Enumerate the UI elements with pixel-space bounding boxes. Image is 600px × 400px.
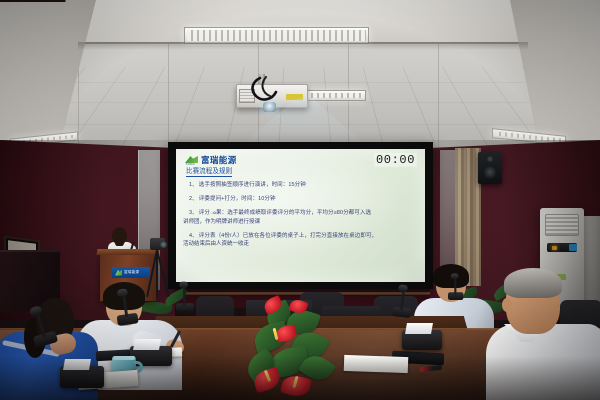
item-text: 选手按照抽签顺序进行演讲，时间：15分钟 — [199, 182, 306, 188]
logo-company-name: 富瑞能源 — [201, 156, 237, 165]
projection-screen-frame: FORIC 富瑞能源 00:00 比赛流程及规则 1、选手按照抽签顺序进行演讲，… — [168, 142, 433, 289]
name-card — [405, 323, 433, 334]
attendee-hair — [504, 268, 562, 298]
meeting-room-photo: FORIC 富瑞能源 00:00 比赛流程及规则 1、选手按照抽签顺序进行演讲，… — [0, 0, 600, 400]
speaker-cone-icon — [483, 165, 497, 179]
item-text: 评委提问+打分，时间：10分钟 — [199, 196, 276, 202]
wall-speaker — [478, 152, 502, 184]
item-text: 评分表（4份/人）已放在各位评委的桌子上，打完分直接放在桌边即可， — [199, 233, 377, 239]
item-continuation: 讲师团，作为明牌讲师进行授课 — [183, 218, 417, 227]
podium-plaque-text: 富瑞能源 — [124, 270, 139, 275]
item-number: 4、 — [189, 233, 198, 239]
cabinet-top — [0, 0, 67, 2]
conference-unit[interactable] — [60, 366, 104, 388]
slide-list-item: 4、评分表（4份/人）已放在各位评委的桌子上，打完分直接放在桌边即可， 活动结束… — [189, 232, 417, 249]
slide-logo: FORIC 富瑞能源 — [185, 155, 237, 166]
podium-logo-icon — [115, 270, 122, 276]
slide-list-item: 2、评委提问+打分，时间：10分钟 — [189, 195, 417, 204]
attendee-torso — [486, 324, 600, 400]
countdown-timer: 00:00 — [374, 153, 417, 167]
soffit-shadow — [78, 42, 528, 50]
ac-power-led-icon — [552, 246, 557, 250]
flower-arrangement — [236, 296, 356, 400]
item-continuation: 活动结束后由人资统一收走 — [183, 240, 417, 249]
slide-body: 1、选手按照抽签顺序进行演讲，时间：15分钟 2、评委提问+打分，时间：10分钟… — [189, 181, 417, 249]
attendee-ear — [502, 298, 512, 312]
logo-sub-text: FORIC — [186, 163, 195, 166]
score-sheet — [344, 355, 409, 373]
item-number: 3、 — [189, 210, 198, 216]
projector-cables — [246, 76, 290, 106]
conference-unit[interactable] — [402, 330, 442, 350]
name-card — [63, 359, 91, 370]
video-camera — [150, 238, 165, 250]
name-card — [133, 339, 161, 350]
camera-lens-icon — [160, 241, 167, 248]
item-number: 1、 — [189, 182, 198, 188]
slide-list-item: 1、选手按照抽签顺序进行演讲，时间：15分钟 — [189, 181, 417, 190]
ac-grille — [545, 214, 579, 236]
item-text: 评分ం果：选手最终成绩取评委评分的平均分，平均分≥80分都可入选 — [199, 210, 371, 216]
item-number: 2、 — [189, 196, 198, 202]
attendee-senior — [486, 272, 600, 400]
slide-list-item: 3、评分ం果：选手最终成绩取评委评分的平均分，平均分≥80分都可入选 讲师团，作… — [189, 209, 417, 226]
projection-screen: FORIC 富瑞能源 00:00 比赛流程及规则 1、选手按照抽签顺序进行演讲，… — [176, 149, 425, 282]
speaker-tweeter-icon — [487, 156, 493, 162]
slide-subtitle: 比赛流程及规则 — [186, 168, 232, 177]
company-logo-icon: FORIC — [185, 155, 198, 166]
ac-brand-badge — [569, 244, 577, 251]
